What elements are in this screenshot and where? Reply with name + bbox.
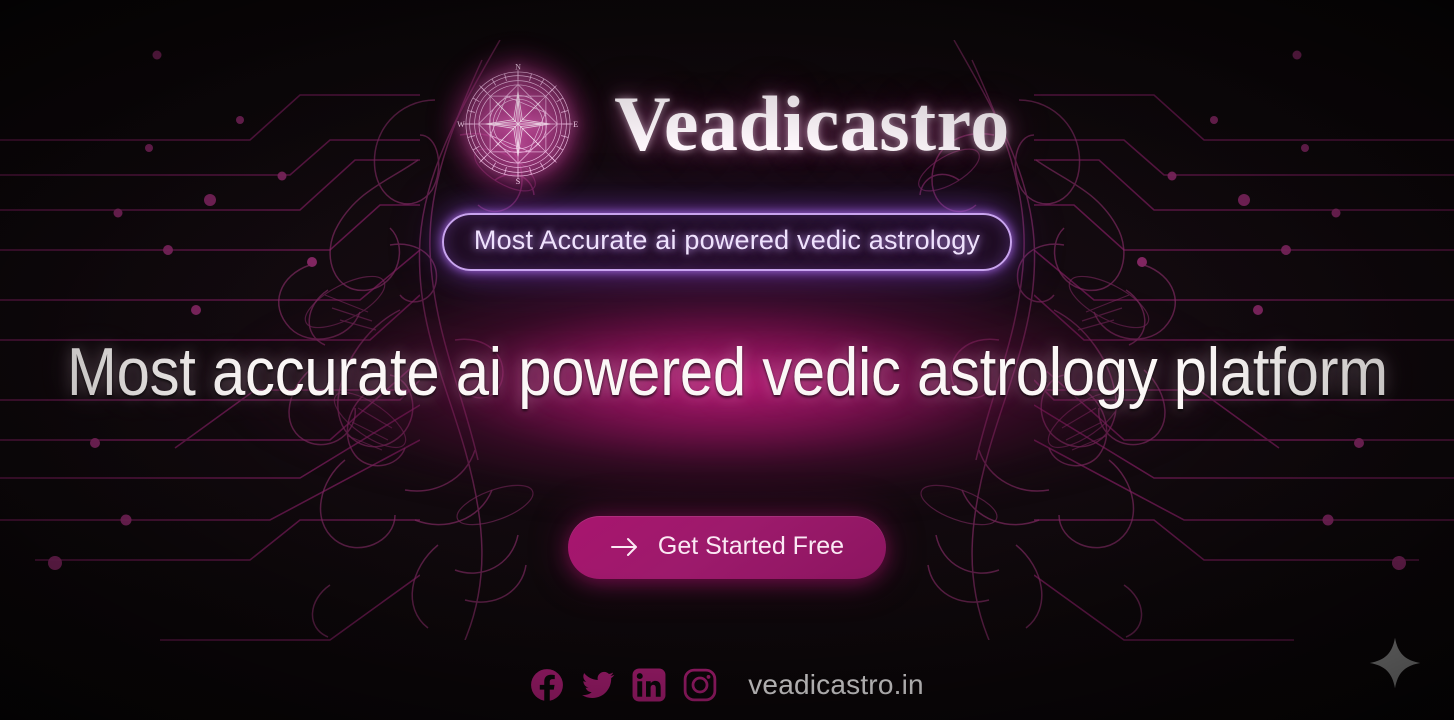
compass-label-east: E <box>573 120 578 129</box>
hero-landing-page: N E S W Veadicastro Most Accurate ai pow… <box>0 0 1454 720</box>
footer-social-bar: veadicastro.in <box>0 668 1454 702</box>
tagline-badge: Most Accurate ai powered vedic astrology <box>442 213 1012 271</box>
brand-row: N E S W Veadicastro <box>444 46 1010 201</box>
compass-rose-icon: N E S W <box>456 62 580 186</box>
compass-label-south: S <box>516 177 520 186</box>
linkedin-icon[interactable] <box>632 668 666 702</box>
compass-label-west: W <box>457 120 465 129</box>
page-title: Most accurate ai powered vedic astrology… <box>67 333 1388 411</box>
compass-label-north: N <box>515 62 521 71</box>
sparkle-star-icon[interactable] <box>1368 636 1422 690</box>
arrow-right-icon <box>610 536 640 558</box>
logo: N E S W <box>444 50 592 198</box>
twitter-icon[interactable] <box>581 668 615 702</box>
hero-content: N E S W Veadicastro Most Accurate ai pow… <box>0 0 1454 720</box>
facebook-icon[interactable] <box>530 668 564 702</box>
website-url[interactable]: veadicastro.in <box>748 669 924 701</box>
instagram-icon[interactable] <box>683 668 717 702</box>
brand-title: Veadicastro <box>614 85 1010 163</box>
get-started-button-label: Get Started Free <box>658 532 844 561</box>
get-started-button[interactable]: Get Started Free <box>568 516 886 579</box>
